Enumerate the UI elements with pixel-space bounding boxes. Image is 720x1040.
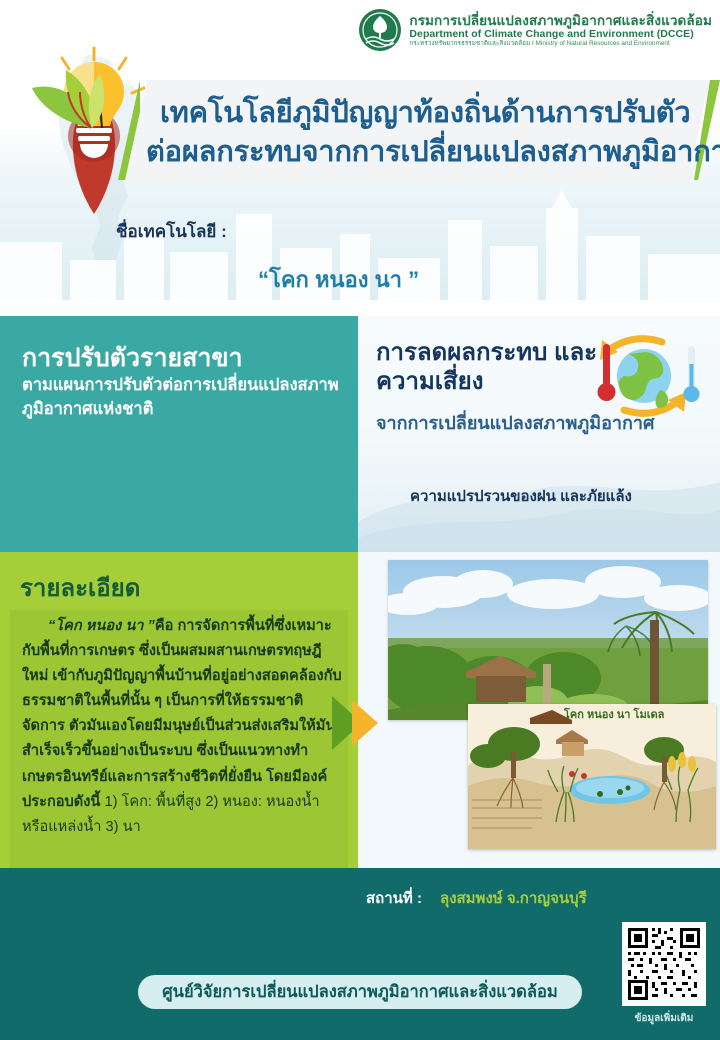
detail-description: คือ การจัดการพื้นที่ซึ่งเหมาะกับพื้นที่ก…	[22, 618, 342, 810]
dcce-emblem-icon	[358, 8, 402, 52]
dcce-name-thai: กรมการเปลี่ยนแปลงสภาพภูมิอากาศและสิ่งแวด…	[409, 13, 712, 29]
poster-footer	[0, 868, 720, 1040]
mitigation-heading: การลดผลกระทบ และความเสี่ยง	[376, 338, 606, 397]
technology-name: “โคก หนอง นา ”	[258, 262, 419, 297]
adaptation-subheading: ตามแผนการปรับตัวต่อการเปลี่ยนแปลงสภาพภูม…	[22, 374, 352, 422]
detail-title: รายละเอียด	[20, 568, 140, 607]
pointer-arrow-icon	[352, 700, 378, 746]
poster-title-line2: ต่อผลกระทบจากการเปลี่ยนแปลงสภาพภูมิอากาศ	[146, 128, 720, 174]
detail-quote: “โคก หนอง นา ”	[48, 618, 155, 634]
mitigation-panel: การลดผลกระทบ และความเสี่ยง จากการเปลี่ยน…	[358, 316, 720, 552]
place-label: สถานที่ :	[366, 886, 422, 910]
poster-header: กรมการเปลี่ยนแปลงสภาพภูมิอากาศและสิ่งแวด…	[0, 0, 720, 300]
khok-nong-na-diagram: โคก หนอง นา โมเดล	[468, 704, 716, 849]
farm-photo-image	[388, 560, 708, 720]
dcce-ministry-line: กระทรวงทรัพยากรธรรมชาติและสิ่งแวดล้อม I …	[409, 40, 712, 47]
globe-thermometer-icon	[584, 330, 704, 422]
farm-photo	[388, 560, 708, 720]
detail-body: “โคก หนอง นา ”คือ การจัดการพื้นที่ซึ่งเห…	[22, 614, 342, 840]
adaptation-panel: การปรับตัวรายสาขา ตามแผนการปรับตัวต่อการ…	[0, 316, 358, 552]
adaptation-heading: การปรับตัวรายสาขา	[22, 338, 243, 378]
research-center-name: ศูนย์วิจัยการเปลี่ยนแปลงสภาพภูมิอากาศและ…	[162, 979, 558, 1005]
mid-band: การปรับตัวรายสาขา ตามแผนการปรับตัวต่อการ…	[0, 316, 720, 552]
qr-caption: ข้อมูลเพิ่มเติม	[614, 1011, 714, 1026]
thermometer-cold-icon	[684, 346, 700, 402]
dcce-logo: กรมการเปลี่ยนแปลงสภาพภูมิอากาศและสิ่งแวด…	[358, 8, 712, 52]
qr-code-image	[626, 926, 702, 1002]
diagram-title-text: โคก หนอง นา โมเดล	[563, 707, 665, 721]
research-center-badge: ศูนย์วิจัยการเปลี่ยนแปลงสภาพภูมิอากาศและ…	[138, 975, 582, 1009]
mitigation-note: ความแปรปรวนของฝน และภัยแล้ง	[410, 484, 632, 508]
poster-root: กรมการเปลี่ยนแปลงสภาพภูมิอากาศและสิ่งแวด…	[0, 0, 720, 1040]
technology-label: ชื่อเทคโนโลยี :	[116, 218, 227, 245]
dcce-name-english: Department of Climate Change and Environ…	[409, 28, 712, 40]
diagram-image: โคก หนอง นา โมเดล	[468, 704, 716, 849]
qr-code[interactable]	[622, 922, 706, 1006]
place-value: ลุงสมพงษ์ จ.กาญจนบุรี	[440, 886, 587, 910]
